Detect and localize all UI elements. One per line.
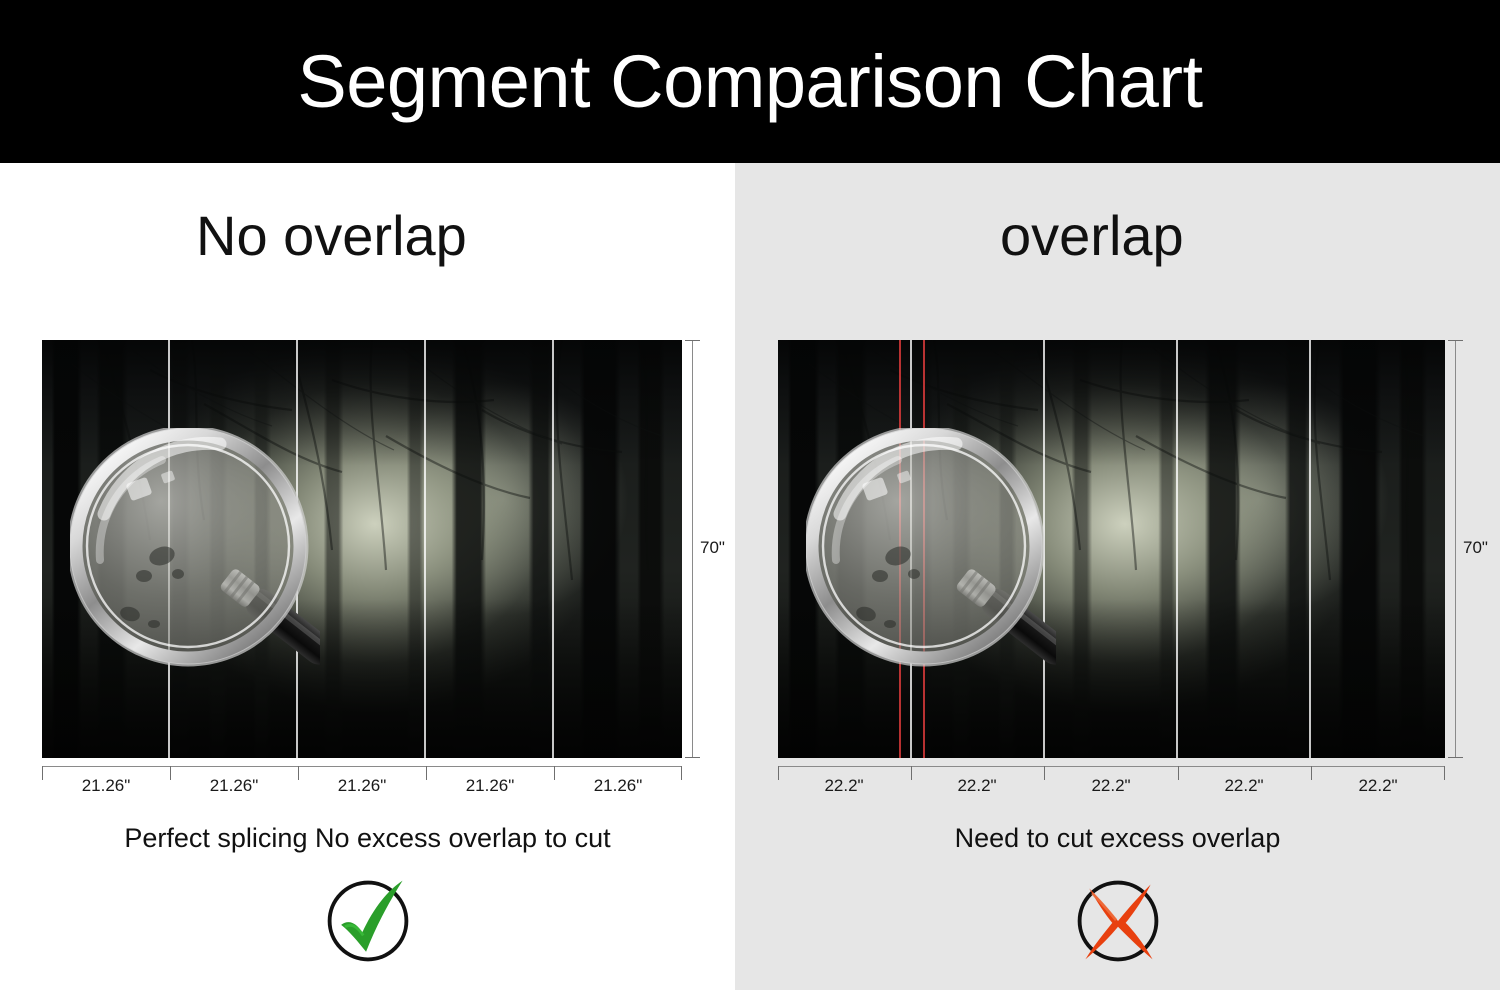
panel-divider-4: [1309, 340, 1311, 758]
dim-tick: [42, 766, 43, 780]
dim-tick: [298, 766, 299, 780]
segment-width-label: 21.26": [82, 776, 131, 796]
figure-no-overlap: 21.26" 21.26" 21.26" 21.26" 21.26" 70": [42, 340, 682, 758]
segment-width-label: 21.26": [338, 776, 387, 796]
segment-comparison-page: Segment Comparison Chart No overlap: [0, 0, 1500, 990]
comparison-panels: No overlap: [0, 163, 1500, 990]
panel-divider-1: [168, 340, 170, 758]
dim-tick: [170, 766, 171, 780]
forest-photo-no-overlap: [42, 340, 682, 758]
page-header: Segment Comparison Chart: [0, 0, 1500, 163]
width-dimension-ticks: 22.2" 22.2" 22.2" 22.2" 22.2": [778, 766, 1445, 792]
segment-width-label: 21.26": [594, 776, 643, 796]
height-dimension-label: 70": [700, 538, 725, 558]
dim-tick: [778, 766, 779, 780]
caption-no-overlap: Perfect splicing No excess overlap to cu…: [0, 823, 735, 854]
panel-divider-2: [296, 340, 298, 758]
height-dimension-label: 70": [1463, 538, 1488, 558]
segment-width-label: 21.26": [466, 776, 515, 796]
panel-divider-1: [910, 340, 912, 758]
dim-tick: [1444, 766, 1445, 780]
segment-width-label: 22.2": [957, 776, 996, 796]
forest-canopy-shading: [778, 340, 1445, 758]
caption-overlap: Need to cut excess overlap: [735, 823, 1500, 854]
forest-photo-overlap: [778, 340, 1445, 758]
height-dimension-line: [1455, 340, 1456, 758]
segment-width-label: 22.2": [824, 776, 863, 796]
panel-heading-overlap: overlap: [1000, 203, 1184, 268]
dim-tick: [554, 766, 555, 780]
segment-width-label: 22.2": [1224, 776, 1263, 796]
panel-no-overlap: No overlap: [0, 163, 735, 990]
figure-overlap: 22.2" 22.2" 22.2" 22.2" 22.2" 70": [778, 340, 1445, 758]
dim-tick: [1311, 766, 1312, 780]
dim-tick: [1178, 766, 1179, 780]
forest-canopy-shading: [42, 340, 682, 758]
check-mark-icon: [320, 873, 416, 969]
dim-tick: [1044, 766, 1045, 780]
dim-tick: [426, 766, 427, 780]
verdict-overlap: [735, 873, 1500, 969]
segment-width-label: 22.2": [1358, 776, 1397, 796]
panel-divider-3: [424, 340, 426, 758]
height-dimension-line: [692, 340, 693, 758]
width-dimension-ticks: 21.26" 21.26" 21.26" 21.26" 21.26": [42, 766, 682, 792]
segment-width-label: 21.26": [210, 776, 259, 796]
panel-divider-4: [552, 340, 554, 758]
panel-overlap: overlap: [735, 163, 1500, 990]
panel-divider-3: [1176, 340, 1178, 758]
dim-tick: [911, 766, 912, 780]
verdict-no-overlap: [0, 873, 735, 969]
panel-divider-2: [1043, 340, 1045, 758]
segment-width-label: 22.2": [1091, 776, 1130, 796]
panel-heading-no-overlap: No overlap: [196, 203, 467, 268]
cross-mark-icon: [1070, 873, 1166, 969]
dim-tick: [681, 766, 682, 780]
page-title: Segment Comparison Chart: [297, 45, 1202, 119]
